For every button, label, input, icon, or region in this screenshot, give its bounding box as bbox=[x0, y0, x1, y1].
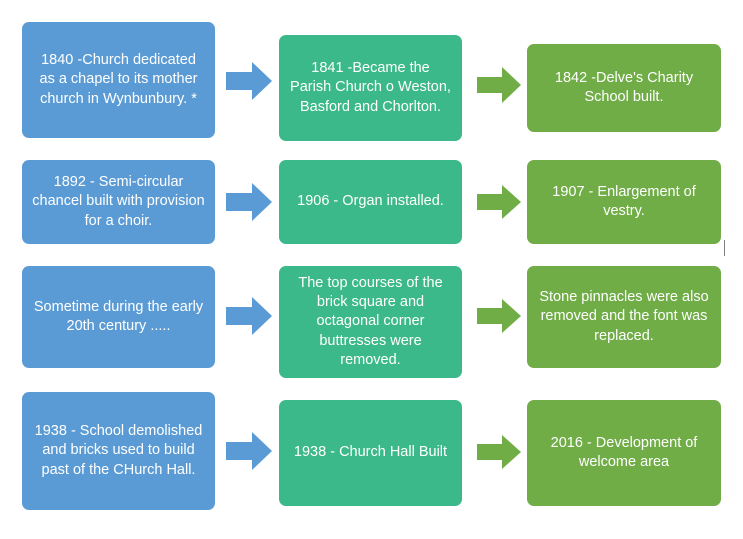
diagram-canvas: 1840 -Church dedicated as a chapel to it… bbox=[0, 0, 743, 539]
flow-box-r3c2[interactable]: The top courses of the brick square and … bbox=[279, 266, 462, 378]
flow-box-text: Sometime during the early 20th century .… bbox=[32, 298, 205, 336]
flow-box-r4c3[interactable]: 2016 - Development of welcome area bbox=[527, 400, 721, 506]
arrow-r2a1 bbox=[226, 183, 272, 221]
arrow-r2a2 bbox=[477, 185, 521, 219]
flow-box-text: 2016 - Development of welcome area bbox=[537, 434, 711, 472]
flow-box-r4c2[interactable]: 1938 - Church Hall Built bbox=[279, 400, 462, 506]
flow-box-r2c1[interactable]: 1892 - Semi-circular chancel built with … bbox=[22, 160, 215, 244]
flow-box-r3c3[interactable]: Stone pinnacles were also removed and th… bbox=[527, 266, 721, 368]
flow-box-text: The top courses of the brick square and … bbox=[289, 274, 452, 370]
flow-box-r2c3[interactable]: 1907 - Enlargement of vestry. bbox=[527, 160, 721, 244]
flow-box-r1c2[interactable]: 1841 -Became the Parish Church o Weston,… bbox=[279, 35, 462, 141]
arrow-r4a1 bbox=[226, 432, 272, 470]
flow-box-r3c1[interactable]: Sometime during the early 20th century .… bbox=[22, 266, 215, 368]
arrow-r1a1 bbox=[226, 62, 272, 100]
flow-box-r1c1[interactable]: 1840 -Church dedicated as a chapel to it… bbox=[22, 22, 215, 138]
arrow-r3a1 bbox=[226, 297, 272, 335]
flow-box-r4c1[interactable]: 1938 - School demolished and bricks used… bbox=[22, 392, 215, 510]
flow-box-text: Stone pinnacles were also removed and th… bbox=[537, 288, 711, 345]
flow-box-text: 1841 -Became the Parish Church o Weston,… bbox=[289, 59, 452, 116]
flow-box-text: 1840 -Church dedicated as a chapel to it… bbox=[32, 51, 205, 108]
flow-box-r2c2[interactable]: 1906 - Organ installed. bbox=[279, 160, 462, 244]
arrow-r3a2 bbox=[477, 299, 521, 333]
flow-box-text: 1938 - School demolished and bricks used… bbox=[32, 422, 205, 479]
flow-box-text: 1842 -Delve's Charity School built. bbox=[537, 69, 711, 107]
edge-tick-mark bbox=[724, 240, 725, 256]
arrow-r1a2 bbox=[477, 67, 521, 103]
flow-box-text: 1906 - Organ installed. bbox=[289, 192, 452, 211]
arrow-r4a2 bbox=[477, 435, 521, 469]
flow-box-text: 1907 - Enlargement of vestry. bbox=[537, 183, 711, 221]
flow-box-r1c3[interactable]: 1842 -Delve's Charity School built. bbox=[527, 44, 721, 132]
flow-box-text: 1892 - Semi-circular chancel built with … bbox=[32, 173, 205, 230]
flow-box-text: 1938 - Church Hall Built bbox=[289, 443, 452, 462]
